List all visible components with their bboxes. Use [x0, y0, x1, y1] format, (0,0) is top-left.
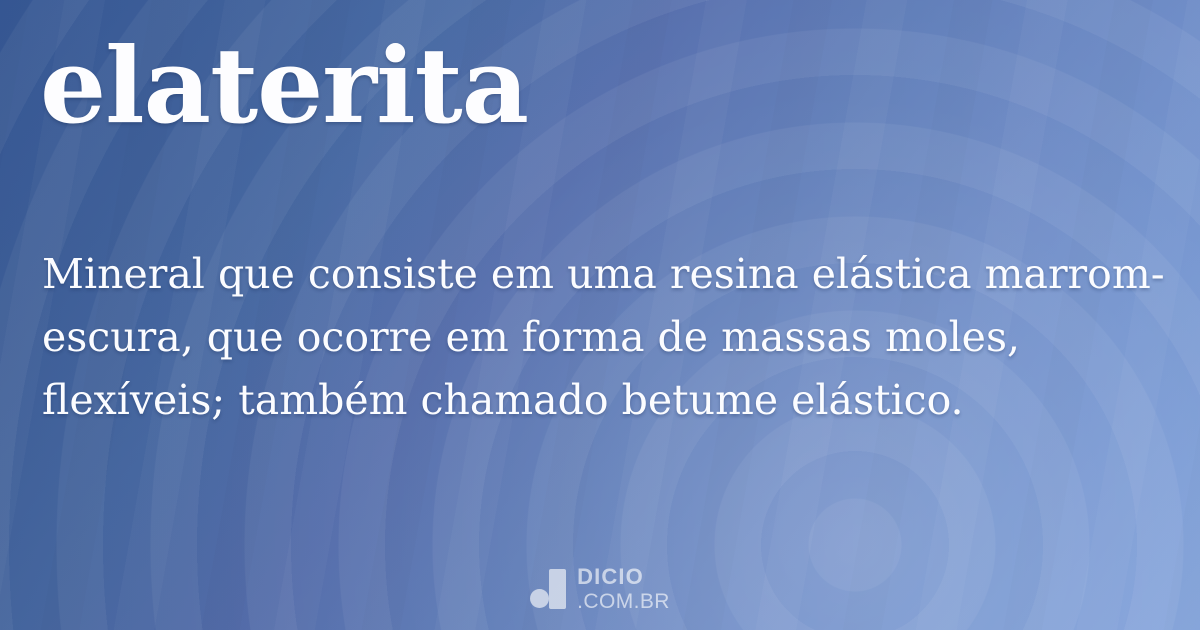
- brand-name: DICIO: [577, 566, 670, 588]
- definition-text: Mineral que consiste em uma resina elást…: [42, 243, 1172, 432]
- brand-mark: [530, 569, 567, 609]
- rounded-bar-icon: [549, 569, 566, 609]
- dicio-brand-logo: DICIO .COM.BR: [0, 566, 1200, 612]
- brand-tld: .COM.BR: [577, 591, 670, 612]
- dictionary-entry-card: elaterita Mineral que consiste em uma re…: [0, 0, 1200, 630]
- card-content: elaterita Mineral que consiste em uma re…: [0, 0, 1200, 630]
- headword-title: elaterita: [40, 28, 528, 144]
- brand-wordmark: DICIO .COM.BR: [577, 566, 670, 612]
- circle-icon: [530, 589, 549, 608]
